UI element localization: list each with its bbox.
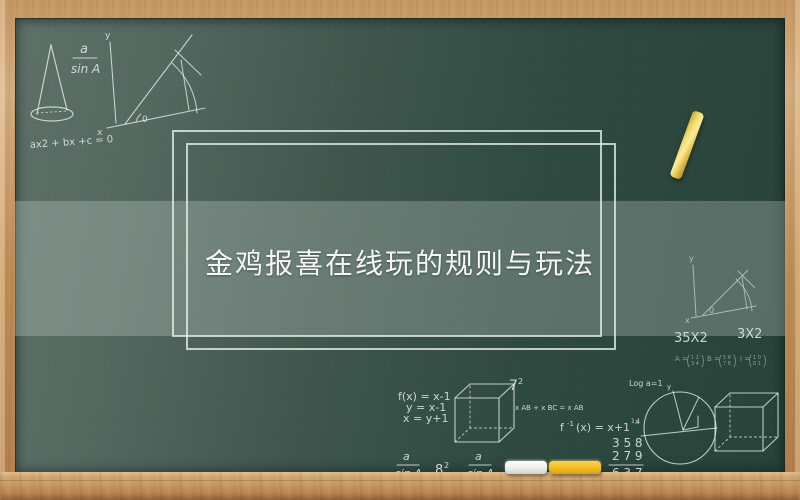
svg-text:y: y [667,383,671,391]
svg-text:I =: I = [740,355,750,363]
svg-text:1 0: 1 0 [753,355,761,361]
chalk-ledge [0,472,800,500]
svg-text:3 5 8: 3 5 8 [612,436,643,450]
svg-text:7: 7 [509,378,518,394]
svg-text:0: 0 [709,306,714,315]
svg-text:B =: B = [707,355,720,363]
fraction-a-over-sinA-topleft: a sin A [71,42,100,76]
chalk-stick-diagonal-icon [669,110,704,180]
chalk-stick-yellow-icon [549,461,601,474]
svg-text:a: a [475,450,482,463]
function-definitions: f(x) = x-1 y = x-1 x = y+1 [398,390,451,425]
svg-text:(x) = x+1: (x) = x+1 [576,421,630,434]
svg-text:a: a [80,42,88,57]
svg-text:x: x [97,128,103,138]
fraction-a-over-sinA-bottom-mid: a sin A [467,450,494,474]
svg-text:0 1: 0 1 [753,361,761,367]
svg-text:f: f [560,421,565,434]
svg-text:x: x [685,316,690,325]
svg-text:f(x) = x-1: f(x) = x-1 [398,390,451,403]
chalkboard-surface: a sin A ax2 + bx +c = 0 y x [15,18,785,474]
svg-text:x: x [635,418,639,426]
long-division-digits: 3 5 8 2 7 9 6 3 7 1 1 [609,418,643,474]
chalk-stick-white-icon [505,461,547,474]
svg-text:2 7 9: 2 7 9 [612,449,643,463]
svg-text:7 8: 7 8 [723,361,731,367]
seven-squared: 7 2 [509,377,523,394]
fraction-a-over-sinA-bottom-left: a sin A [395,450,422,474]
svg-text:a: a [403,450,410,463]
svg-text:y = x-1: y = x-1 [406,401,446,414]
cube-diagram-center [455,384,514,442]
chalkboard-banner: a sin A ax2 + bx +c = 0 y x [0,0,800,500]
inline-equation-faint: x AB + x BC = x AB [515,404,584,412]
svg-text:sin A: sin A [71,62,100,76]
log-a-label: Log a=1 [629,379,663,388]
quadratic-equation-text: ax2 + bx +c = 0 [29,134,113,151]
svg-text:-1: -1 [567,420,574,428]
cube-diagram-right [715,393,778,451]
inverse-function-block: f -1 (x) = x+1 [560,420,630,434]
page-title: 金鸡报喜在线玩的规则与玩法 [15,242,785,282]
svg-text:1 1: 1 1 [631,418,641,425]
svg-text:1 2: 1 2 [691,355,699,361]
svg-text:0: 0 [142,115,148,125]
svg-text:3 4: 3 4 [691,361,699,367]
angle-diagram-left: y x 0 [97,31,205,138]
outer-title-frame [172,130,602,337]
sphere-diagram: x y [635,383,717,464]
svg-text:A =: A = [675,355,688,363]
svg-text:2: 2 [518,377,523,386]
svg-text:5 6: 5 6 [723,355,731,361]
svg-text:y: y [105,31,111,41]
svg-text:2: 2 [444,461,449,470]
svg-text:x = y+1: x = y+1 [403,412,448,425]
matrix-notation: A = 1 2 3 4 B = 5 6 7 8 I = 1 0 0 1 [675,355,766,367]
cone-diagram [31,45,73,121]
text-35x2: 35X2 [674,331,708,346]
text-3x2: 3X2 [737,327,762,342]
